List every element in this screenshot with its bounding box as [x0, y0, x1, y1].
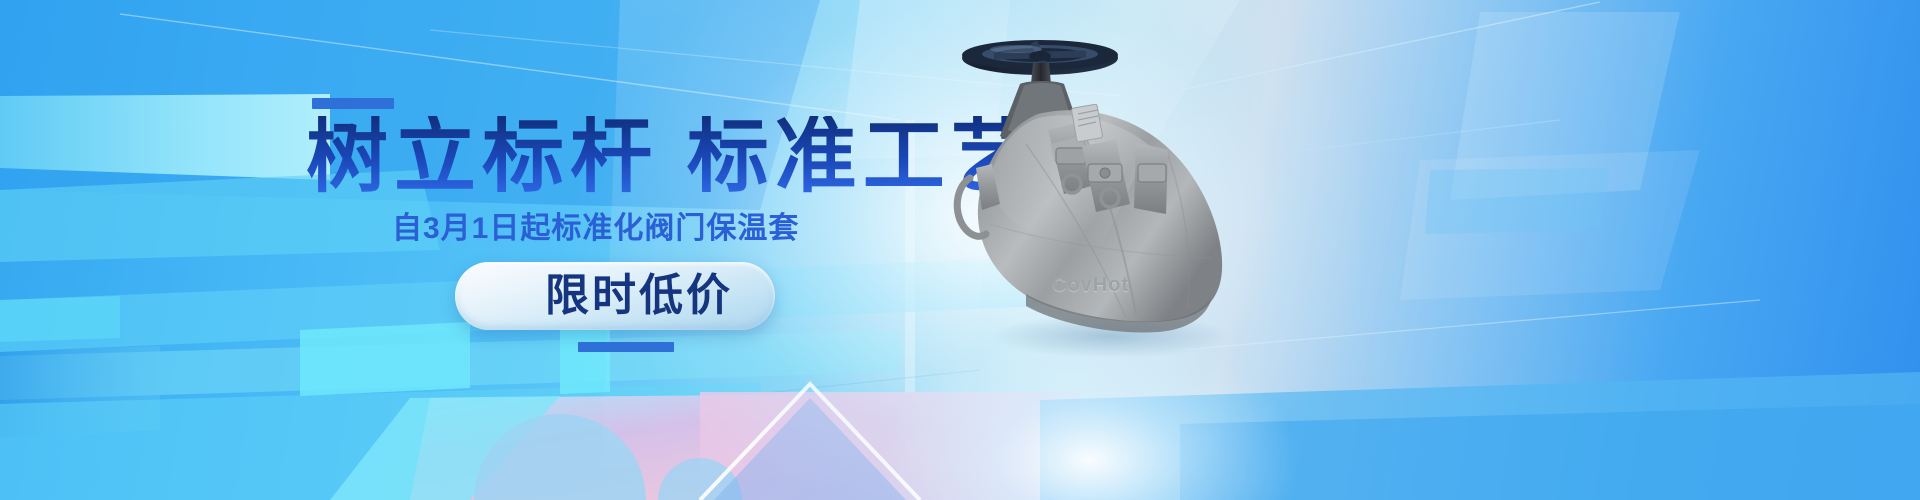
- valve-insulation-jacket-icon: [930, 18, 1280, 358]
- product-image: CovHot: [930, 18, 1280, 358]
- product-label-tag: [1071, 104, 1103, 142]
- banner-text-block: 树立标杆 标准工艺 自3月1日起标准化阀门保温套 限时低价: [0, 0, 960, 500]
- jacket-strap-right: [1134, 142, 1168, 214]
- banner-headline: 树立标杆 标准工艺: [306, 116, 1039, 198]
- underline-accent-icon: [578, 342, 674, 352]
- valve-stem: [1031, 63, 1051, 84]
- dash-accent-icon: [312, 98, 394, 109]
- cta-pill-button[interactable]: 限时低价: [455, 262, 775, 330]
- promo-banner: 树立标杆 标准工艺 自3月1日起标准化阀门保温套 限时低价: [0, 0, 1920, 500]
- product-brand-label: CovHot: [1052, 274, 1129, 297]
- banner-subtitle: 自3月1日起标准化阀门保温套: [392, 214, 799, 244]
- cta-pill-label: 限时低价: [497, 274, 733, 318]
- bg-panel-right-3: [1425, 168, 1610, 234]
